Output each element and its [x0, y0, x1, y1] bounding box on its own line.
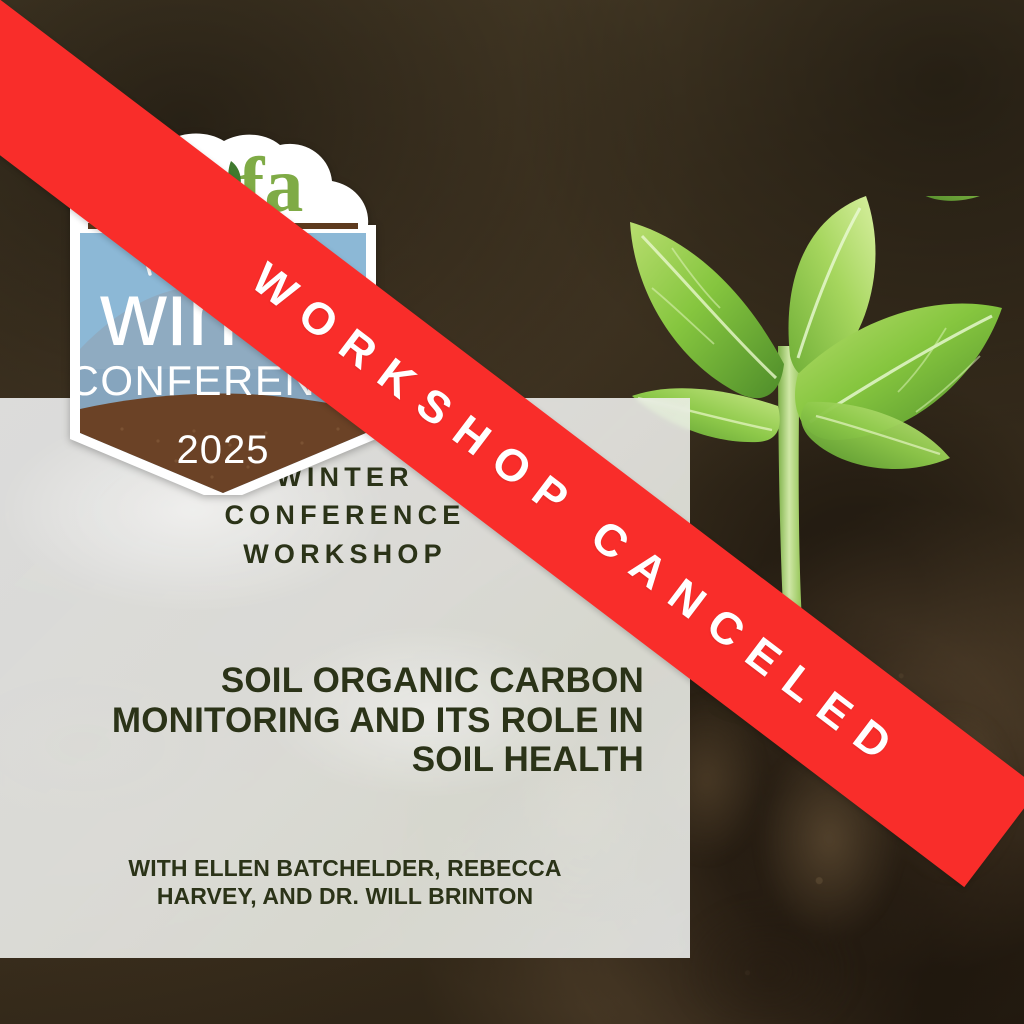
- presenter-list: WITH ELLEN BATCHELDER, REBECCA HARVEY, A…: [42, 854, 648, 910]
- presenter-line-2: HARVEY, AND DR. WILL BRINTON: [56, 882, 634, 910]
- title-line-3: SOIL HEALTH: [42, 740, 644, 780]
- title-line-1: SOIL ORGANIC CARBON: [42, 661, 644, 701]
- badge-year-text: 2025: [177, 428, 270, 472]
- workshop-title: SOIL ORGANIC CARBON MONITORING AND ITS R…: [42, 661, 648, 780]
- presenter-line-1: WITH ELLEN BATCHELDER, REBECCA: [56, 854, 634, 882]
- poster-canvas: WINTER CONFERENCE WORKSHOP SOIL ORGANIC …: [0, 0, 1024, 1024]
- title-line-2: MONITORING AND ITS ROLE IN: [42, 701, 644, 741]
